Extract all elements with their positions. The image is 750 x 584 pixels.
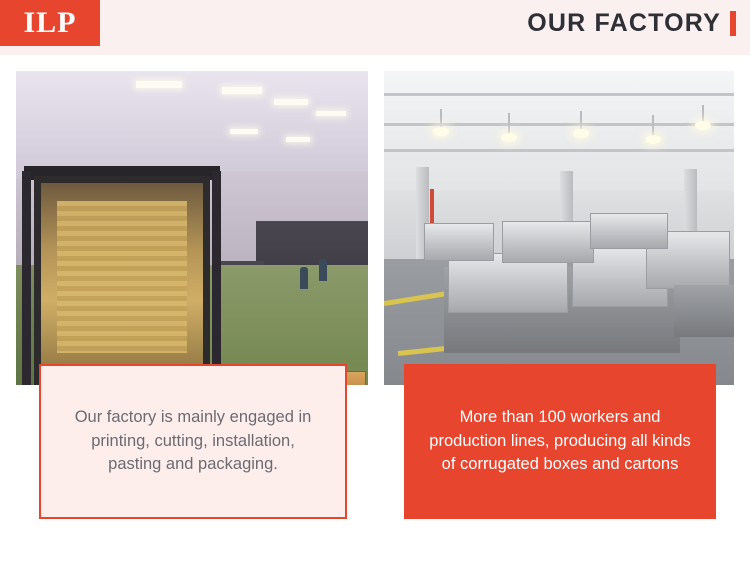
page-header: ILP OUR FACTORY bbox=[0, 0, 750, 55]
ceiling-lamp-icon bbox=[501, 133, 517, 142]
ceiling-light-icon bbox=[274, 99, 308, 105]
ceiling-light-icon bbox=[136, 81, 182, 88]
worker-figure bbox=[300, 267, 308, 289]
production-line-machine bbox=[590, 213, 668, 249]
factory-printing-machine-photo bbox=[16, 71, 368, 385]
ceiling-beam bbox=[384, 93, 734, 96]
accent-bar-icon bbox=[730, 11, 736, 36]
lamp-stem bbox=[440, 109, 442, 127]
production-line-machine bbox=[674, 285, 734, 337]
ceiling-lamp-icon bbox=[573, 129, 589, 138]
worker-figure bbox=[319, 259, 327, 281]
printing-machine bbox=[34, 176, 210, 385]
ceiling-beam bbox=[384, 123, 734, 126]
logo-badge: ILP bbox=[0, 0, 100, 46]
ceiling-light-icon bbox=[316, 111, 346, 116]
ceiling-lamp-icon bbox=[645, 135, 661, 144]
ceiling-light-icon bbox=[286, 137, 310, 142]
ceiling-light-icon bbox=[222, 87, 262, 94]
ceiling-lamp-icon bbox=[695, 121, 711, 130]
ceiling-beam bbox=[384, 149, 734, 152]
ceiling-light-icon bbox=[230, 129, 258, 134]
factory-page: ILP OUR FACTORY bbox=[0, 0, 750, 584]
production-line-machine bbox=[424, 223, 494, 261]
page-title: OUR FACTORY bbox=[527, 9, 721, 38]
ceiling bbox=[16, 71, 368, 179]
caption-text: Our factory is mainly engaged in printin… bbox=[63, 406, 323, 478]
lamp-stem bbox=[508, 113, 510, 133]
caption-text: More than 100 workers and production lin… bbox=[422, 406, 698, 478]
machine-post bbox=[22, 171, 31, 385]
caption-box-left: Our factory is mainly engaged in printin… bbox=[39, 364, 347, 519]
lamp-stem bbox=[652, 115, 654, 135]
header-title-group: OUR FACTORY bbox=[527, 9, 736, 38]
ceiling-lamp-icon bbox=[433, 127, 449, 136]
lamp-stem bbox=[580, 111, 582, 129]
logo-text: ILP bbox=[23, 6, 76, 40]
lamp-stem bbox=[702, 105, 704, 121]
caption-box-right: More than 100 workers and production lin… bbox=[404, 364, 716, 519]
machine-post bbox=[212, 171, 221, 385]
machine-panel bbox=[57, 201, 187, 353]
factory-production-lines-photo bbox=[384, 71, 734, 385]
production-line-machine bbox=[502, 221, 594, 263]
